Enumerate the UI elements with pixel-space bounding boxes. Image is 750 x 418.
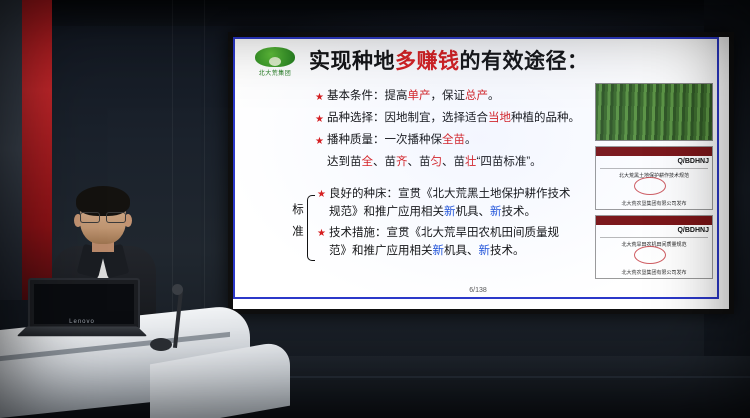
leaf-icon	[255, 47, 295, 67]
bullet-text: “四苗标准”。	[477, 156, 542, 168]
doc-footer: 北大荒农垦集团有限公司发布	[596, 269, 712, 276]
bullet-text: 总产	[465, 90, 488, 102]
bullet-text: 达到苗	[327, 156, 362, 168]
document-thumbnails: Q/BDHNJ 北大荒黑土地保护耕作技术规范 北大荒农垦集团有限公司发布 Q/B…	[595, 83, 711, 284]
laptop-brand-label: Lenovo	[30, 319, 134, 325]
star-icon: ★	[315, 132, 324, 151]
bullet-text: 、苗	[373, 156, 396, 168]
slide-page-number: 6/138	[235, 287, 721, 294]
doc-stamp-icon	[634, 246, 666, 264]
presentation-slide: 北大荒集团 实现种地多赚钱的有效途径： ★基本条件：提高单产，保证总产。★品种选…	[233, 37, 719, 299]
microphone-icon	[172, 284, 183, 295]
standard-doc-2: Q/BDHNJ 北大荒旱田农机田间质量规范 北大荒农垦集团有限公司发布	[595, 215, 713, 279]
bullet-text: 新	[490, 206, 502, 218]
bullet-text: 新	[479, 245, 491, 257]
slide-bullet: ★良好的种床：宣贯《北大荒黑土地保护耕作技术规范》和推广应用相关新机具、新技术。	[317, 185, 573, 221]
doc-header-bar	[596, 147, 712, 156]
bullet-text: ，保证	[431, 90, 466, 102]
bullet-text: 新	[433, 245, 445, 257]
star-icon: ★	[315, 110, 324, 129]
title-suffix: 的有效途径：	[460, 50, 589, 73]
star-icon: ★	[315, 88, 324, 107]
left-wall-column	[0, 0, 22, 300]
doc-code: Q/BDHNJ	[677, 158, 709, 165]
glasses-icon	[79, 212, 127, 222]
video-frame: 北大荒集团 实现种地多赚钱的有效途径： ★基本条件：提高单产，保证总产。★品种选…	[0, 0, 750, 418]
slide-title: 实现种地多赚钱的有效途径：	[309, 45, 709, 75]
display-screen: 北大荒集团 实现种地多赚钱的有效途径： ★基本条件：提高单产，保证总产。★品种选…	[233, 37, 729, 309]
bullet-text: 齐	[396, 156, 408, 168]
star-icon: ★	[317, 225, 326, 243]
bullet-text: 机具、	[456, 206, 491, 218]
bullet-text: 。	[488, 90, 500, 102]
ceiling	[0, 0, 750, 26]
doc-footer: 北大荒农垦集团有限公司发布	[596, 200, 712, 207]
bullet-text: 单产	[408, 90, 431, 102]
bullet-text: 机具、	[444, 245, 479, 257]
slide-bullet: ★品种选择：因地制宜，选择适合当地种植的品种。	[315, 109, 565, 128]
slide-bullet-list: ★基本条件：提高单产，保证总产。★品种选择：因地制宜，选择适合当地种植的品种。★…	[315, 87, 565, 175]
standards-label: 标准	[291, 199, 305, 243]
slide-bullet: ★技术措施：宣贯《北大荒旱田农机田间质量规范》和推广应用相关新机具、新技术。	[317, 224, 573, 260]
bullet-text: 技术。	[502, 206, 537, 218]
laptop-keyboard[interactable]	[17, 327, 148, 337]
bullet-text: 种植的品种。	[511, 112, 580, 124]
bullet-text: 匀	[431, 156, 443, 168]
bullet-text: 壮	[465, 156, 477, 168]
brace-icon	[307, 195, 315, 261]
slide-bullet: ★基本条件：提高单产，保证总产。	[315, 87, 565, 106]
standard-doc-1: Q/BDHNJ 北大荒黑土地保护耕作技术规范 北大荒农垦集团有限公司发布	[595, 146, 713, 210]
bullet-text: 播种质量：一次播种保	[327, 134, 442, 146]
wall-seam	[172, 0, 173, 358]
standards-items: ★良好的种床：宣贯《北大荒黑土地保护耕作技术规范》和推广应用相关新机具、新技术。…	[317, 185, 573, 263]
company-logo: 北大荒集团	[247, 47, 303, 81]
field-photo-thumbnail	[595, 83, 713, 141]
bullet-text: 基本条件：提高	[327, 90, 408, 102]
laptop-lid: Lenovo	[28, 278, 140, 330]
bullet-text: 当地	[488, 112, 511, 124]
wall-seam	[204, 0, 205, 358]
bullet-text: 。	[465, 134, 477, 146]
bullet-text: 全苗	[442, 134, 465, 146]
wall-display: 北大荒集团 实现种地多赚钱的有效途径： ★基本条件：提高单产，保证总产。★品种选…	[228, 32, 734, 314]
doc-code: Q/BDHNJ	[677, 227, 709, 234]
title-accent: 多赚钱	[395, 50, 460, 73]
slide-bullet: ★播种质量：一次播种保全苗。	[315, 131, 565, 150]
laptop[interactable]: Lenovo	[22, 278, 140, 348]
bullet-text: 、苗	[442, 156, 465, 168]
doc-stamp-icon	[634, 177, 666, 195]
doc-header-bar	[596, 216, 712, 225]
title-prefix: 实现种地	[309, 50, 395, 73]
bullet-text: 技术。	[490, 245, 525, 257]
slide-bullet: 达到苗全、苗齐、苗匀、苗壮“四苗标准”。	[315, 153, 565, 172]
bullet-text: 、苗	[408, 156, 431, 168]
star-icon: ★	[317, 186, 326, 204]
laptop-screen	[34, 284, 134, 324]
bullet-text: 全	[362, 156, 374, 168]
bullet-text: 新	[444, 206, 456, 218]
bullet-text: 品种选择：因地制宜，选择适合	[327, 112, 488, 124]
mouse[interactable]	[150, 338, 172, 351]
logo-text: 北大荒集团	[247, 68, 303, 77]
